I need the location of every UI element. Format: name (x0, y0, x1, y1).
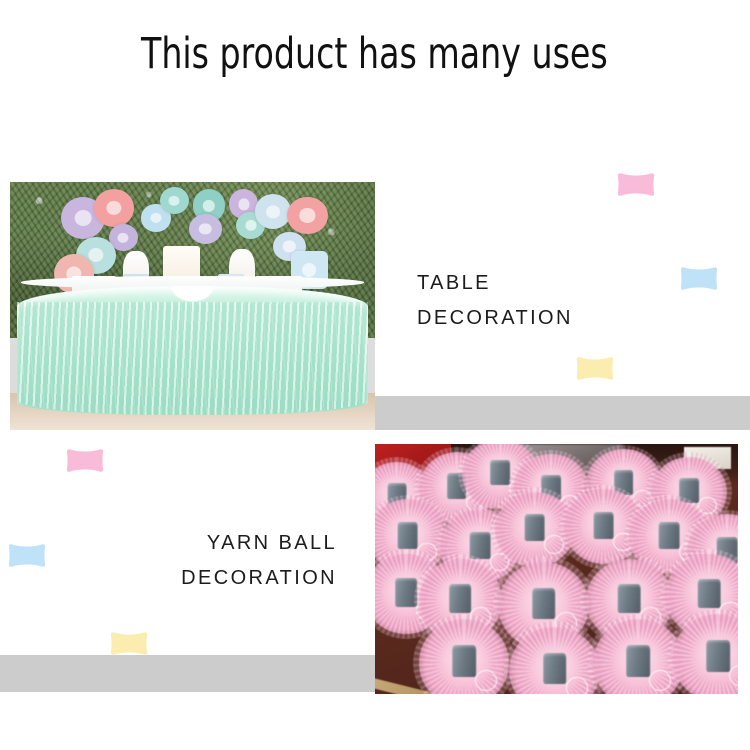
pillow-yellow-lower-right (576, 356, 614, 381)
bottle-cap (470, 532, 491, 559)
ribbon (475, 670, 497, 691)
bottle-cap (490, 460, 510, 485)
paper-flower (94, 189, 134, 226)
pillow-blue-mid-right (680, 266, 718, 291)
paper-flower (255, 194, 292, 229)
bottle-cap (397, 522, 418, 549)
caption-yarn-ball-decoration: YARN BALL DECORATION (181, 526, 337, 596)
paper-flower (189, 214, 222, 244)
paper-flower (160, 187, 189, 214)
photo-yarn-ball-decoration (375, 444, 738, 694)
bottle-cap (532, 588, 556, 620)
bottle-cap (593, 512, 614, 539)
pillow-blue-lower-left (8, 543, 46, 568)
bottle-cap (452, 645, 476, 677)
pillow-pink-mid-left (66, 448, 104, 473)
yarn-ball (673, 614, 738, 694)
bottle-cap (449, 584, 471, 614)
bottle-cap (543, 653, 567, 685)
product-feature-banner: This product has many uses TA (0, 0, 750, 750)
ribbon (566, 677, 588, 694)
caption-line-1: YARN BALL (181, 526, 337, 561)
caption-line-2: DECORATION (181, 561, 337, 596)
bottle-cap (659, 522, 680, 549)
caption-table-decoration: TABLE DECORATION (417, 266, 573, 336)
bottle-cap (618, 584, 641, 614)
bottle-cap (706, 640, 730, 672)
bottle-cap (698, 579, 721, 609)
caption-line-1: TABLE (417, 266, 573, 301)
gray-band-left (0, 655, 375, 692)
page-title: This product has many uses (141, 14, 623, 94)
paper-flower (287, 197, 327, 234)
photo-table-decoration (10, 182, 375, 430)
yarn-ball (419, 619, 510, 694)
caption-line-2: DECORATION (417, 301, 573, 336)
ribbon (729, 665, 738, 686)
gray-band-right (375, 396, 750, 430)
pillow-yellow-bottom-left (110, 631, 148, 656)
ribbon (649, 670, 671, 691)
tulle-table-skirt (17, 286, 367, 415)
bottle-cap (524, 514, 545, 541)
bottle-cap (626, 645, 650, 677)
pillow-pink-top-right (617, 172, 655, 197)
